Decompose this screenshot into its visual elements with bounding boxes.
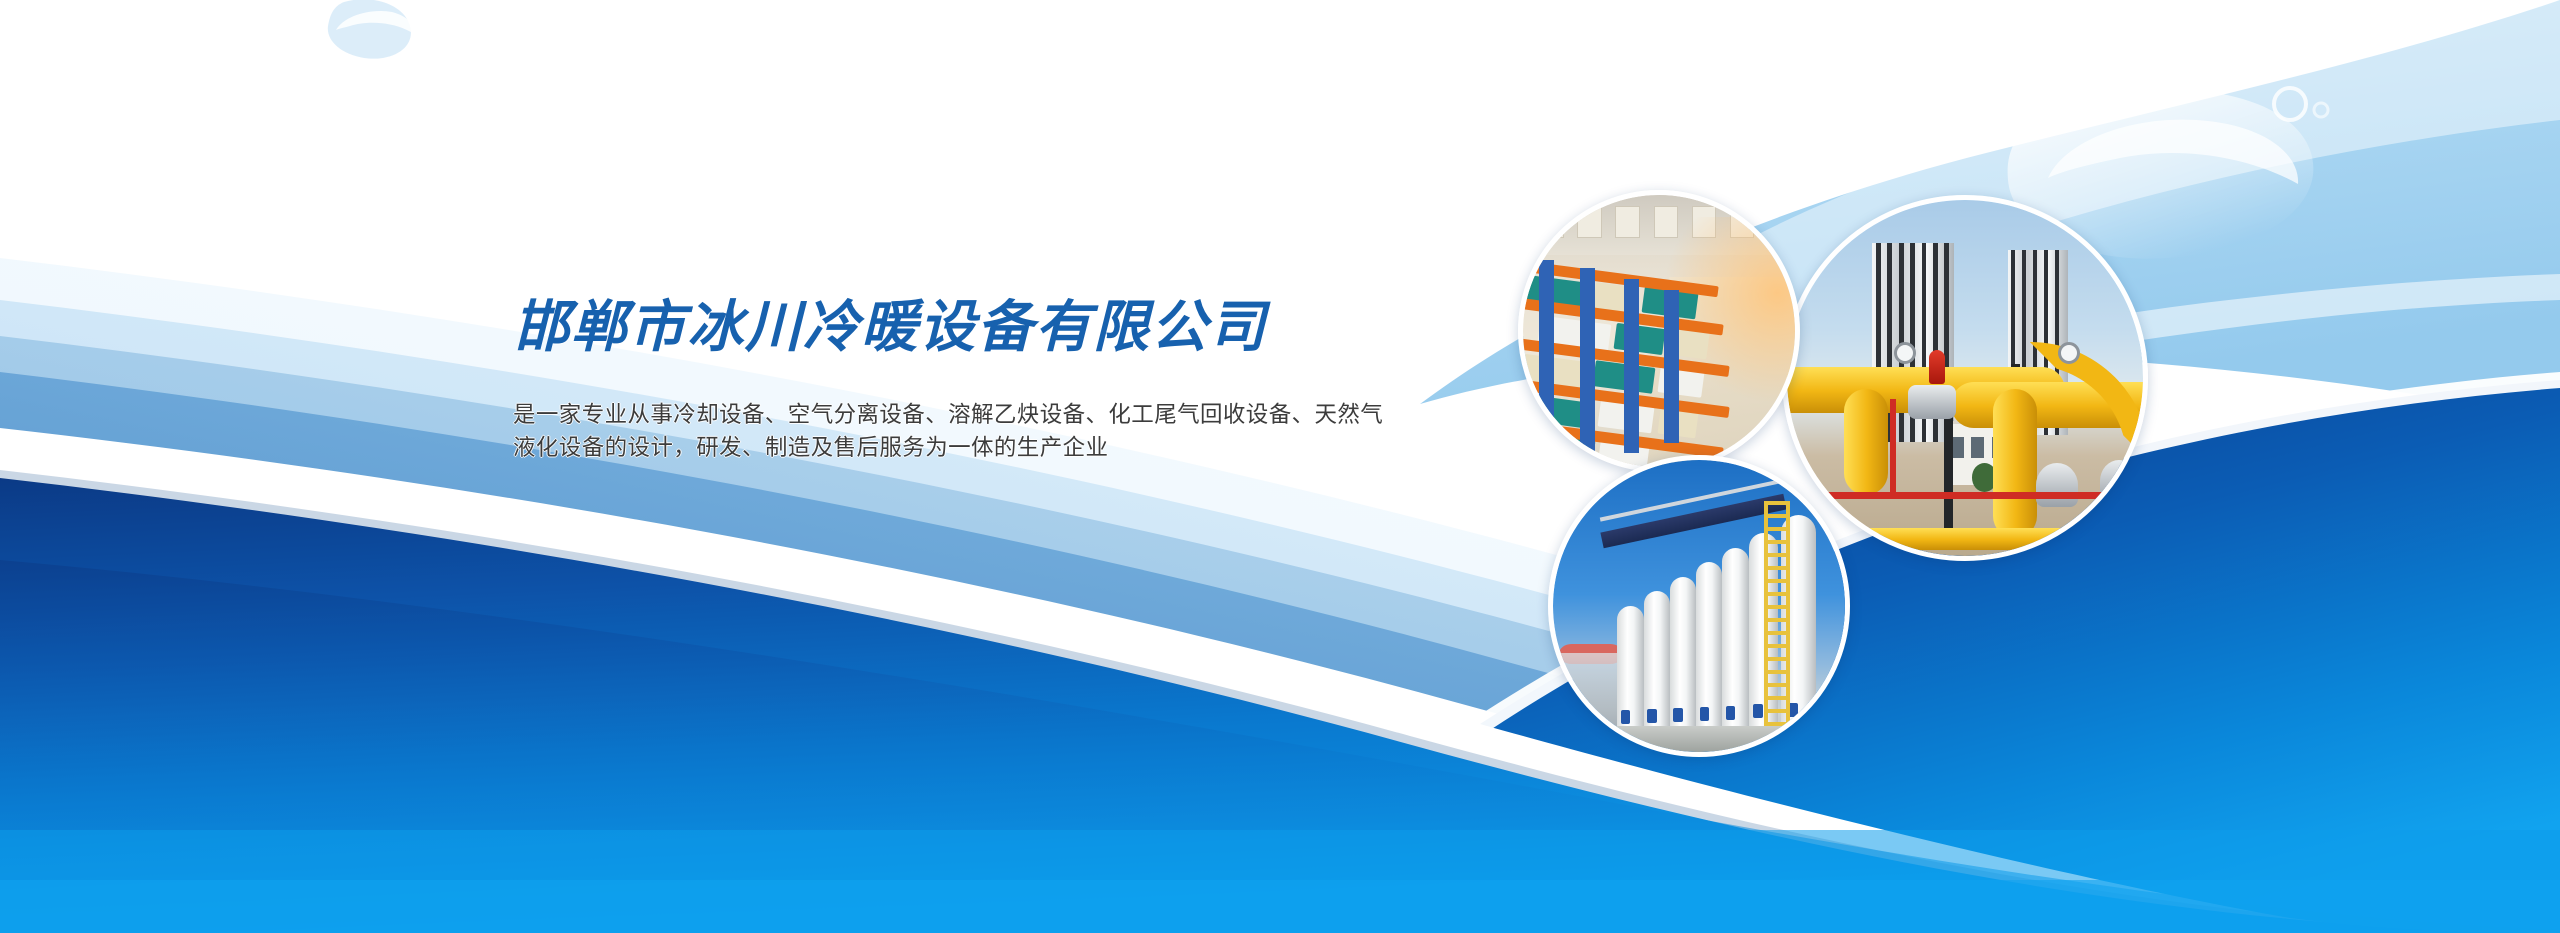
company-description-line-2: 液化设备的设计，研发、制造及售后服务为一体的生产企业 bbox=[513, 431, 1493, 464]
company-description: 是一家专业从事冷却设备、空气分离设备、溶解乙炔设备、化工尾气回收设备、天然气 液… bbox=[513, 398, 1493, 464]
company-banner: 邯郸市冰川冷暖设备有限公司 是一家专业从事冷却设备、空气分离设备、溶解乙炔设备、… bbox=[0, 0, 2560, 933]
banner-text-block: 邯郸市冰川冷暖设备有限公司 是一家专业从事冷却设备、空气分离设备、溶解乙炔设备、… bbox=[513, 300, 1513, 464]
photo-cryogenic-storage-tanks[interactable] bbox=[1548, 455, 1850, 757]
company-description-line-1: 是一家专业从事冷却设备、空气分离设备、溶解乙炔设备、化工尾气回收设备、天然气 bbox=[513, 402, 1383, 427]
photo-warehouse-storage-racks[interactable] bbox=[1518, 190, 1800, 472]
background-wave-graphic bbox=[0, 0, 2560, 933]
company-title: 邯郸市冰川冷暖设备有限公司 bbox=[513, 300, 1513, 356]
